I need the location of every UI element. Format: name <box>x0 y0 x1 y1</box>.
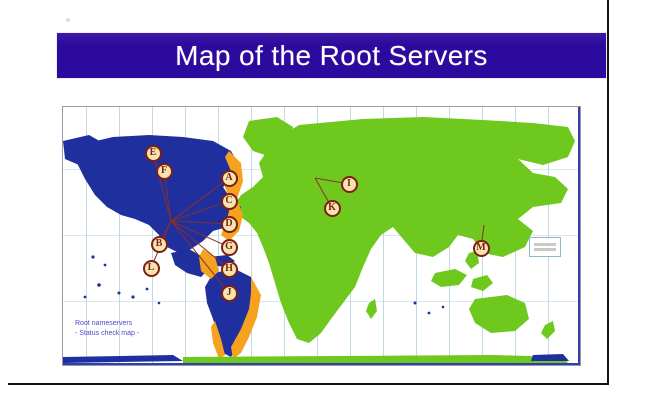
slide-canvas: Map of the Root Servers <box>0 0 655 407</box>
root-server-marker-j[interactable]: J <box>221 285 238 302</box>
root-server-marker-k[interactable]: K <box>324 200 341 217</box>
root-server-marker-h[interactable]: H <box>221 261 238 278</box>
connection-line <box>171 201 229 221</box>
page-frame-bottom-rule <box>8 383 609 385</box>
scan-speck <box>66 18 70 22</box>
root-server-marker-l[interactable]: L <box>143 260 160 277</box>
page-frame-right-rule <box>607 0 609 385</box>
connection-line <box>171 221 229 293</box>
root-server-marker-d[interactable]: D <box>221 216 238 233</box>
root-server-marker-g[interactable]: G <box>221 239 238 256</box>
root-server-marker-c[interactable]: C <box>221 193 238 210</box>
root-server-marker-f[interactable]: F <box>156 163 173 180</box>
slide-title-banner: Map of the Root Servers <box>57 33 606 78</box>
root-server-marker-e[interactable]: E <box>145 145 162 162</box>
root-server-marker-a[interactable]: A <box>221 170 238 187</box>
root-server-marker-b[interactable]: B <box>151 236 168 253</box>
page-title: Map of the Root Servers <box>175 40 488 72</box>
root-server-marker-m[interactable]: M <box>473 240 490 257</box>
root-server-marker-i[interactable]: I <box>341 176 358 193</box>
world-map: E F A C D G B H L J I K M Root nameserve… <box>62 106 581 366</box>
connection-line-layer <box>63 107 580 365</box>
